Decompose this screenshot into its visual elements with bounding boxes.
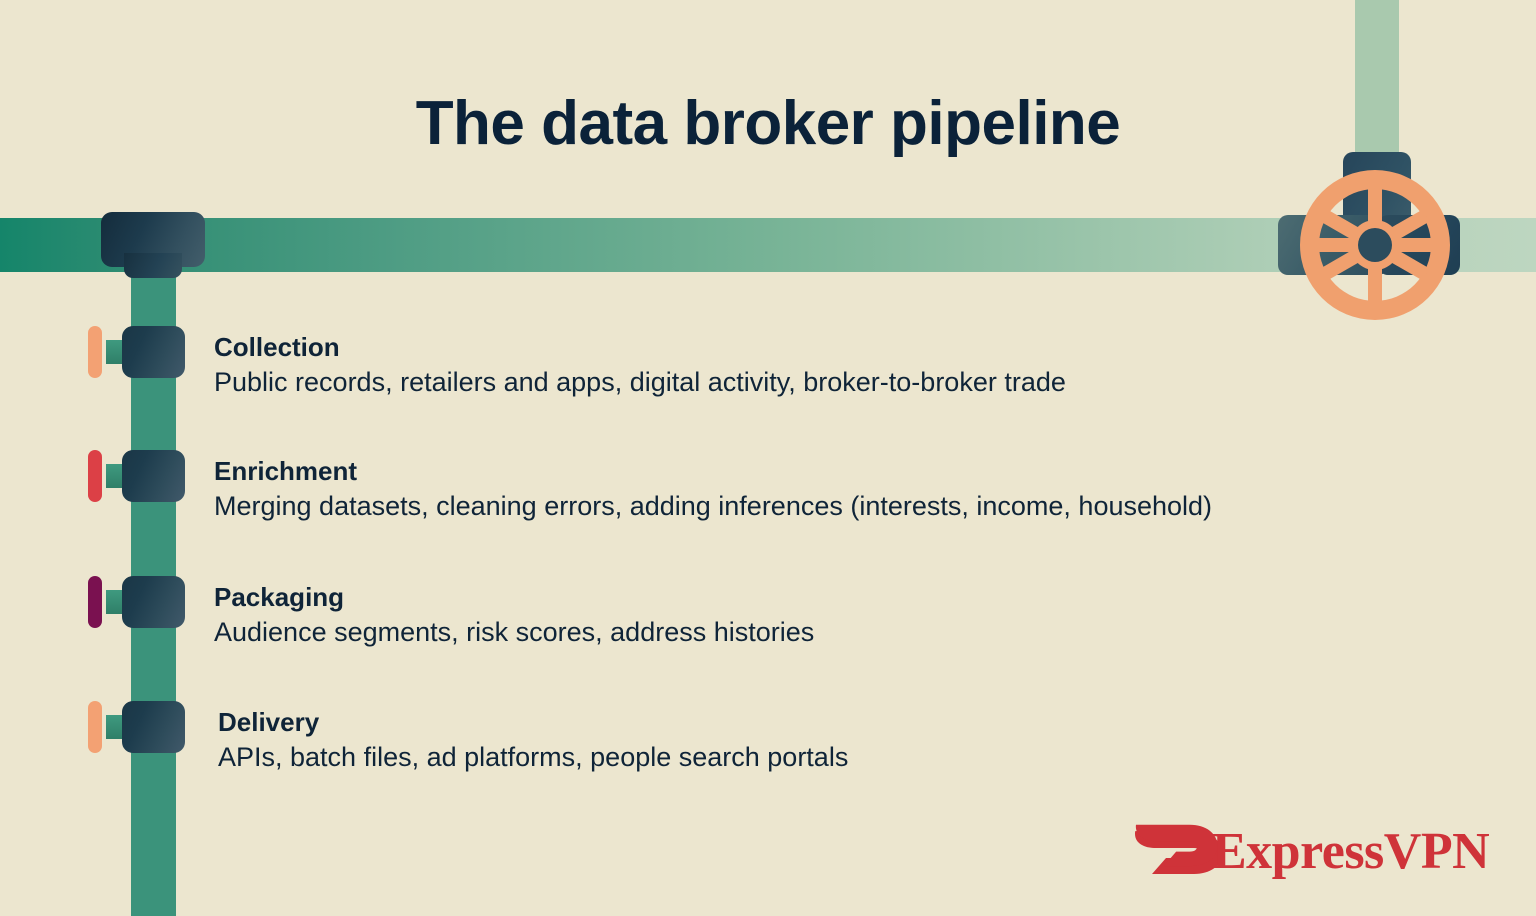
- pipe-flange-icon: [122, 326, 185, 378]
- branch-marker-delivery: [88, 701, 102, 753]
- step-enrichment: Enrichment Merging datasets, cleaning er…: [214, 457, 1212, 523]
- step-title-collection: Collection: [214, 333, 1066, 363]
- pipe-flange-icon: [122, 450, 185, 502]
- pipe-flange-icon: [122, 701, 185, 753]
- branch-marker-enrichment: [88, 450, 102, 502]
- brand-wordmark: ExpressVPN: [1212, 822, 1489, 881]
- step-description-packaging: Audience segments, risk scores, address …: [214, 617, 814, 649]
- page-title: The data broker pipeline: [0, 88, 1536, 159]
- step-delivery: Delivery APIs, batch files, ad platforms…: [218, 708, 848, 774]
- pipe-flange-icon: [122, 576, 185, 628]
- step-description-delivery: APIs, batch files, ad platforms, people …: [218, 742, 848, 774]
- pipe-tee-stub-icon: [124, 253, 182, 278]
- step-packaging: Packaging Audience segments, risk scores…: [214, 583, 814, 649]
- step-title-delivery: Delivery: [218, 708, 848, 738]
- step-title-enrichment: Enrichment: [214, 457, 1212, 487]
- branch-marker-packaging: [88, 576, 102, 628]
- valve-handwheel-icon[interactable]: [1300, 170, 1450, 320]
- infographic-canvas: The data broker pipeline Collection Publ…: [0, 0, 1536, 916]
- step-collection: Collection Public records, retailers and…: [214, 333, 1066, 399]
- step-title-packaging: Packaging: [214, 583, 814, 613]
- step-description-enrichment: Merging datasets, cleaning errors, addin…: [214, 491, 1212, 523]
- branch-marker-collection: [88, 326, 102, 378]
- step-description-collection: Public records, retailers and apps, digi…: [214, 367, 1066, 399]
